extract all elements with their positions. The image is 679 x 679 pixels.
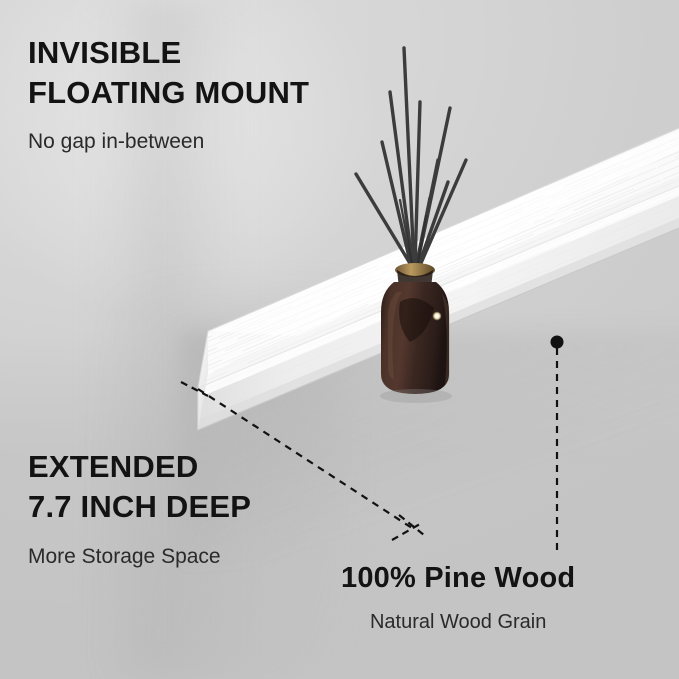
callout-subline: Natural Wood Grain: [341, 609, 575, 635]
callout-extended-depth: EXTENDED 7.7 INCH DEEP More Storage Spac…: [28, 447, 251, 571]
reed-diffuser: [330, 30, 510, 410]
callout-headline: EXTENDED 7.7 INCH DEEP: [28, 447, 251, 526]
product-marketing-image: INVISIBLE FLOATING MOUNT No gap in-betwe…: [0, 0, 679, 679]
callout-subline: More Storage Space: [28, 543, 251, 570]
reed-sticks: [356, 48, 466, 272]
callout-invisible-mount: INVISIBLE FLOATING MOUNT No gap in-betwe…: [28, 33, 309, 156]
callout-headline: 100% Pine Wood: [341, 560, 575, 597]
callout-subline: No gap in-between: [28, 128, 309, 155]
callout-pine-wood: 100% Pine Wood Natural Wood Grain: [341, 560, 575, 635]
callout-headline: INVISIBLE FLOATING MOUNT: [28, 33, 309, 112]
